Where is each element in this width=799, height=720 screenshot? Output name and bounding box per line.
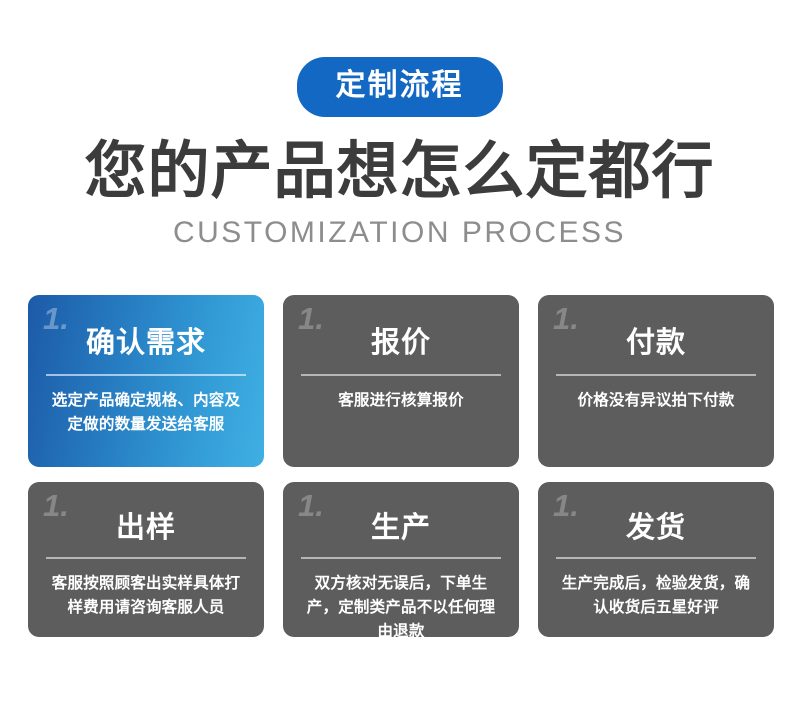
step-title: 报价 (297, 295, 505, 358)
customization-process-page: 定制流程 您的产品想怎么定都行 CUSTOMIZATION PROCESS 1.… (0, 0, 799, 720)
section-badge: 定制流程 (297, 57, 503, 117)
page-subtitle: CUSTOMIZATION PROCESS (0, 218, 799, 248)
step-description: 价格没有异议拍下付款 (552, 389, 760, 413)
process-step-card-4[interactable]: 1. 出样 客服按照顾客出实样具体打样费用请咨询客服人员 (28, 482, 264, 637)
page-title: 您的产品想怎么定都行 (0, 139, 799, 204)
page-header: 定制流程 您的产品想怎么定都行 CUSTOMIZATION PROCESS (0, 0, 799, 248)
step-description: 双方核对无误后，下单生产，定制类产品不以任何理由退款 (297, 572, 505, 637)
step-divider (46, 374, 246, 376)
step-description: 选定产品确定规格、内容及定做的数量发送给客服 (42, 389, 250, 437)
step-description: 客服按照顾客出实样具体打样费用请咨询客服人员 (42, 572, 250, 620)
process-step-card-3[interactable]: 1. 付款 价格没有异议拍下付款 (538, 295, 774, 467)
step-divider (301, 374, 501, 376)
step-divider (556, 557, 756, 559)
step-divider (46, 557, 246, 559)
process-step-grid: 1. 确认需求 选定产品确定规格、内容及定做的数量发送给客服 1. 报价 客服进… (28, 295, 775, 637)
step-title: 发货 (552, 482, 760, 543)
step-title: 付款 (552, 295, 760, 358)
process-step-card-6[interactable]: 1. 发货 生产完成后，检验发货，确认收货后五星好评 (538, 482, 774, 637)
step-description: 生产完成后，检验发货，确认收货后五星好评 (552, 572, 760, 620)
step-divider (301, 557, 501, 559)
step-title: 出样 (42, 482, 250, 543)
step-title: 生产 (297, 482, 505, 543)
step-description: 客服进行核算报价 (297, 389, 505, 413)
step-title: 确认需求 (42, 295, 250, 358)
process-step-card-2[interactable]: 1. 报价 客服进行核算报价 (283, 295, 519, 467)
step-divider (556, 374, 756, 376)
process-step-card-5[interactable]: 1. 生产 双方核对无误后，下单生产，定制类产品不以任何理由退款 (283, 482, 519, 637)
process-step-card-1[interactable]: 1. 确认需求 选定产品确定规格、内容及定做的数量发送给客服 (28, 295, 264, 467)
